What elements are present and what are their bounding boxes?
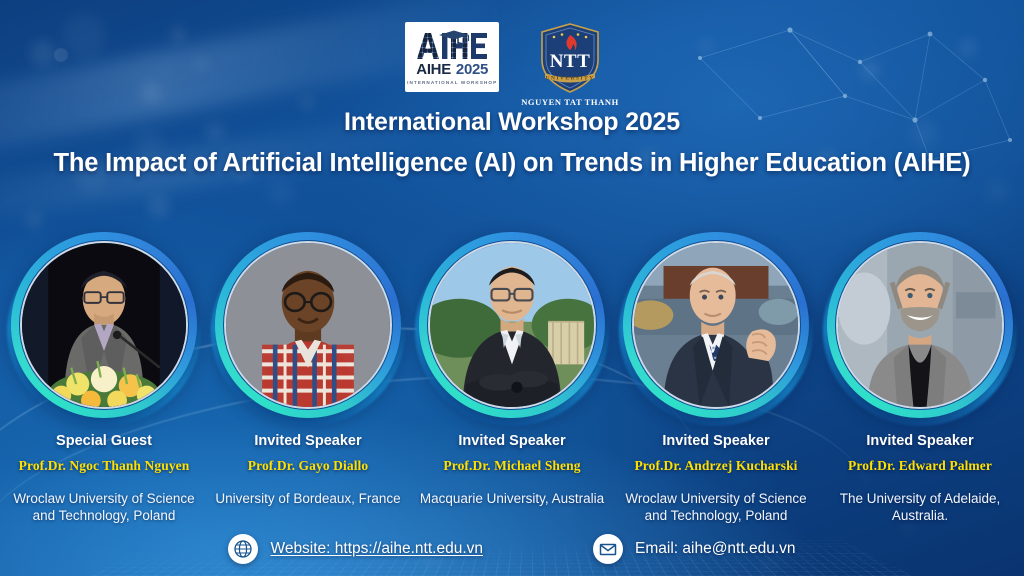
svg-text:NTT: NTT [550, 51, 591, 72]
speaker-card: Invited Speaker Prof.Dr. Andrzej Kuchars… [614, 232, 818, 524]
speaker-card: Special Guest Prof.Dr. Ngoc Thanh Nguyen… [2, 232, 206, 524]
speaker-portrait [827, 232, 1013, 418]
speaker-role: Invited Speaker [662, 433, 769, 449]
ntt-shield-logo: NTT UNIVERSITY NGUYEN TAT THANH [521, 22, 619, 107]
speaker-portrait [11, 232, 197, 418]
speaker-role: Invited Speaker [866, 433, 973, 449]
aihe-logo: AIHE 2025 INTERNATIONAL WORKSHOP [405, 22, 499, 92]
speaker-photo-edward-palmer [836, 241, 1004, 409]
speaker-card: Invited Speaker Prof.Dr. Michael Sheng M… [410, 232, 614, 508]
email-text[interactable]: Email: aihe@ntt.edu.vn [635, 540, 796, 558]
speaker-portrait [623, 232, 809, 418]
speaker-name: Prof.Dr. Andrzej Kucharski [634, 458, 797, 474]
poster-titles: International Workshop 2025 The Impact o… [0, 108, 1024, 181]
speaker-affiliation: Macquarie University, Australia [420, 491, 604, 508]
speaker-photo-gayo-diallo [224, 241, 392, 409]
website-link[interactable]: Website: https://aihe.ntt.edu.vn [228, 534, 483, 564]
website-text[interactable]: Website: https://aihe.ntt.edu.vn [270, 540, 483, 558]
globe-icon [228, 534, 258, 564]
bokeh-dot [986, 180, 1008, 202]
page-title: International Workshop 2025 [0, 108, 1024, 137]
speaker-name: Prof.Dr. Gayo Diallo [248, 458, 369, 474]
aihe-monogram-svg [415, 30, 489, 60]
conference-poster: AIHE 2025 INTERNATIONAL WORKSHOP NTT UNI… [0, 0, 1024, 576]
speakers-row: Special Guest Prof.Dr. Ngoc Thanh Nguyen… [0, 232, 1024, 524]
speaker-role: Special Guest [56, 433, 152, 449]
envelope-icon [593, 534, 623, 564]
bokeh-dot [26, 212, 42, 228]
speaker-affiliation: Wroclaw University of Science and Techno… [6, 491, 202, 524]
speaker-name: Prof.Dr. Edward Palmer [848, 458, 992, 474]
speaker-portrait [215, 232, 401, 418]
speaker-role: Invited Speaker [254, 433, 361, 449]
email-link[interactable]: Email: aihe@ntt.edu.vn [593, 534, 796, 564]
speaker-photo-michael-sheng [428, 241, 596, 409]
speaker-name: Prof.Dr. Michael Sheng [443, 458, 580, 474]
aihe-monogram [408, 30, 496, 60]
ntt-logo-caption: NGUYEN TAT THANH [521, 97, 619, 107]
speaker-role: Invited Speaker [458, 433, 565, 449]
svg-text:UNIVERSITY: UNIVERSITY [545, 76, 594, 82]
bokeh-dot [148, 196, 170, 218]
speaker-photo-andrzej-kucharski [632, 241, 800, 409]
page-subtitle: The Impact of Artificial Intelligence (A… [0, 146, 1024, 181]
speaker-affiliation: Wroclaw University of Science and Techno… [618, 491, 814, 524]
ntt-shield-svg: NTT UNIVERSITY [538, 22, 602, 94]
speaker-card: Invited Speaker Prof.Dr. Edward Palmer T… [818, 232, 1022, 524]
header-logos: AIHE 2025 INTERNATIONAL WORKSHOP NTT UNI… [0, 22, 1024, 107]
speaker-card: Invited Speaker Prof.Dr. Gayo Diallo Uni… [206, 232, 410, 508]
aihe-logo-word-1: AIHE [416, 61, 451, 78]
aihe-logo-word-2: 2025 [456, 61, 488, 78]
aihe-logo-subtitle: INTERNATIONAL WORKSHOP [407, 80, 497, 85]
footer-contacts: Website: https://aihe.ntt.edu.vn Email: … [0, 534, 1024, 564]
speaker-photo-ngoc-thanh-nguyen [20, 241, 188, 409]
bokeh-dot [268, 180, 294, 206]
speaker-portrait [419, 232, 605, 418]
speaker-name: Prof.Dr. Ngoc Thanh Nguyen [19, 458, 190, 474]
aihe-logo-wordmark: AIHE 2025 [416, 61, 488, 78]
speaker-affiliation: The University of Adelaide, Australia. [822, 491, 1018, 524]
speaker-affiliation: University of Bordeaux, France [215, 491, 400, 508]
